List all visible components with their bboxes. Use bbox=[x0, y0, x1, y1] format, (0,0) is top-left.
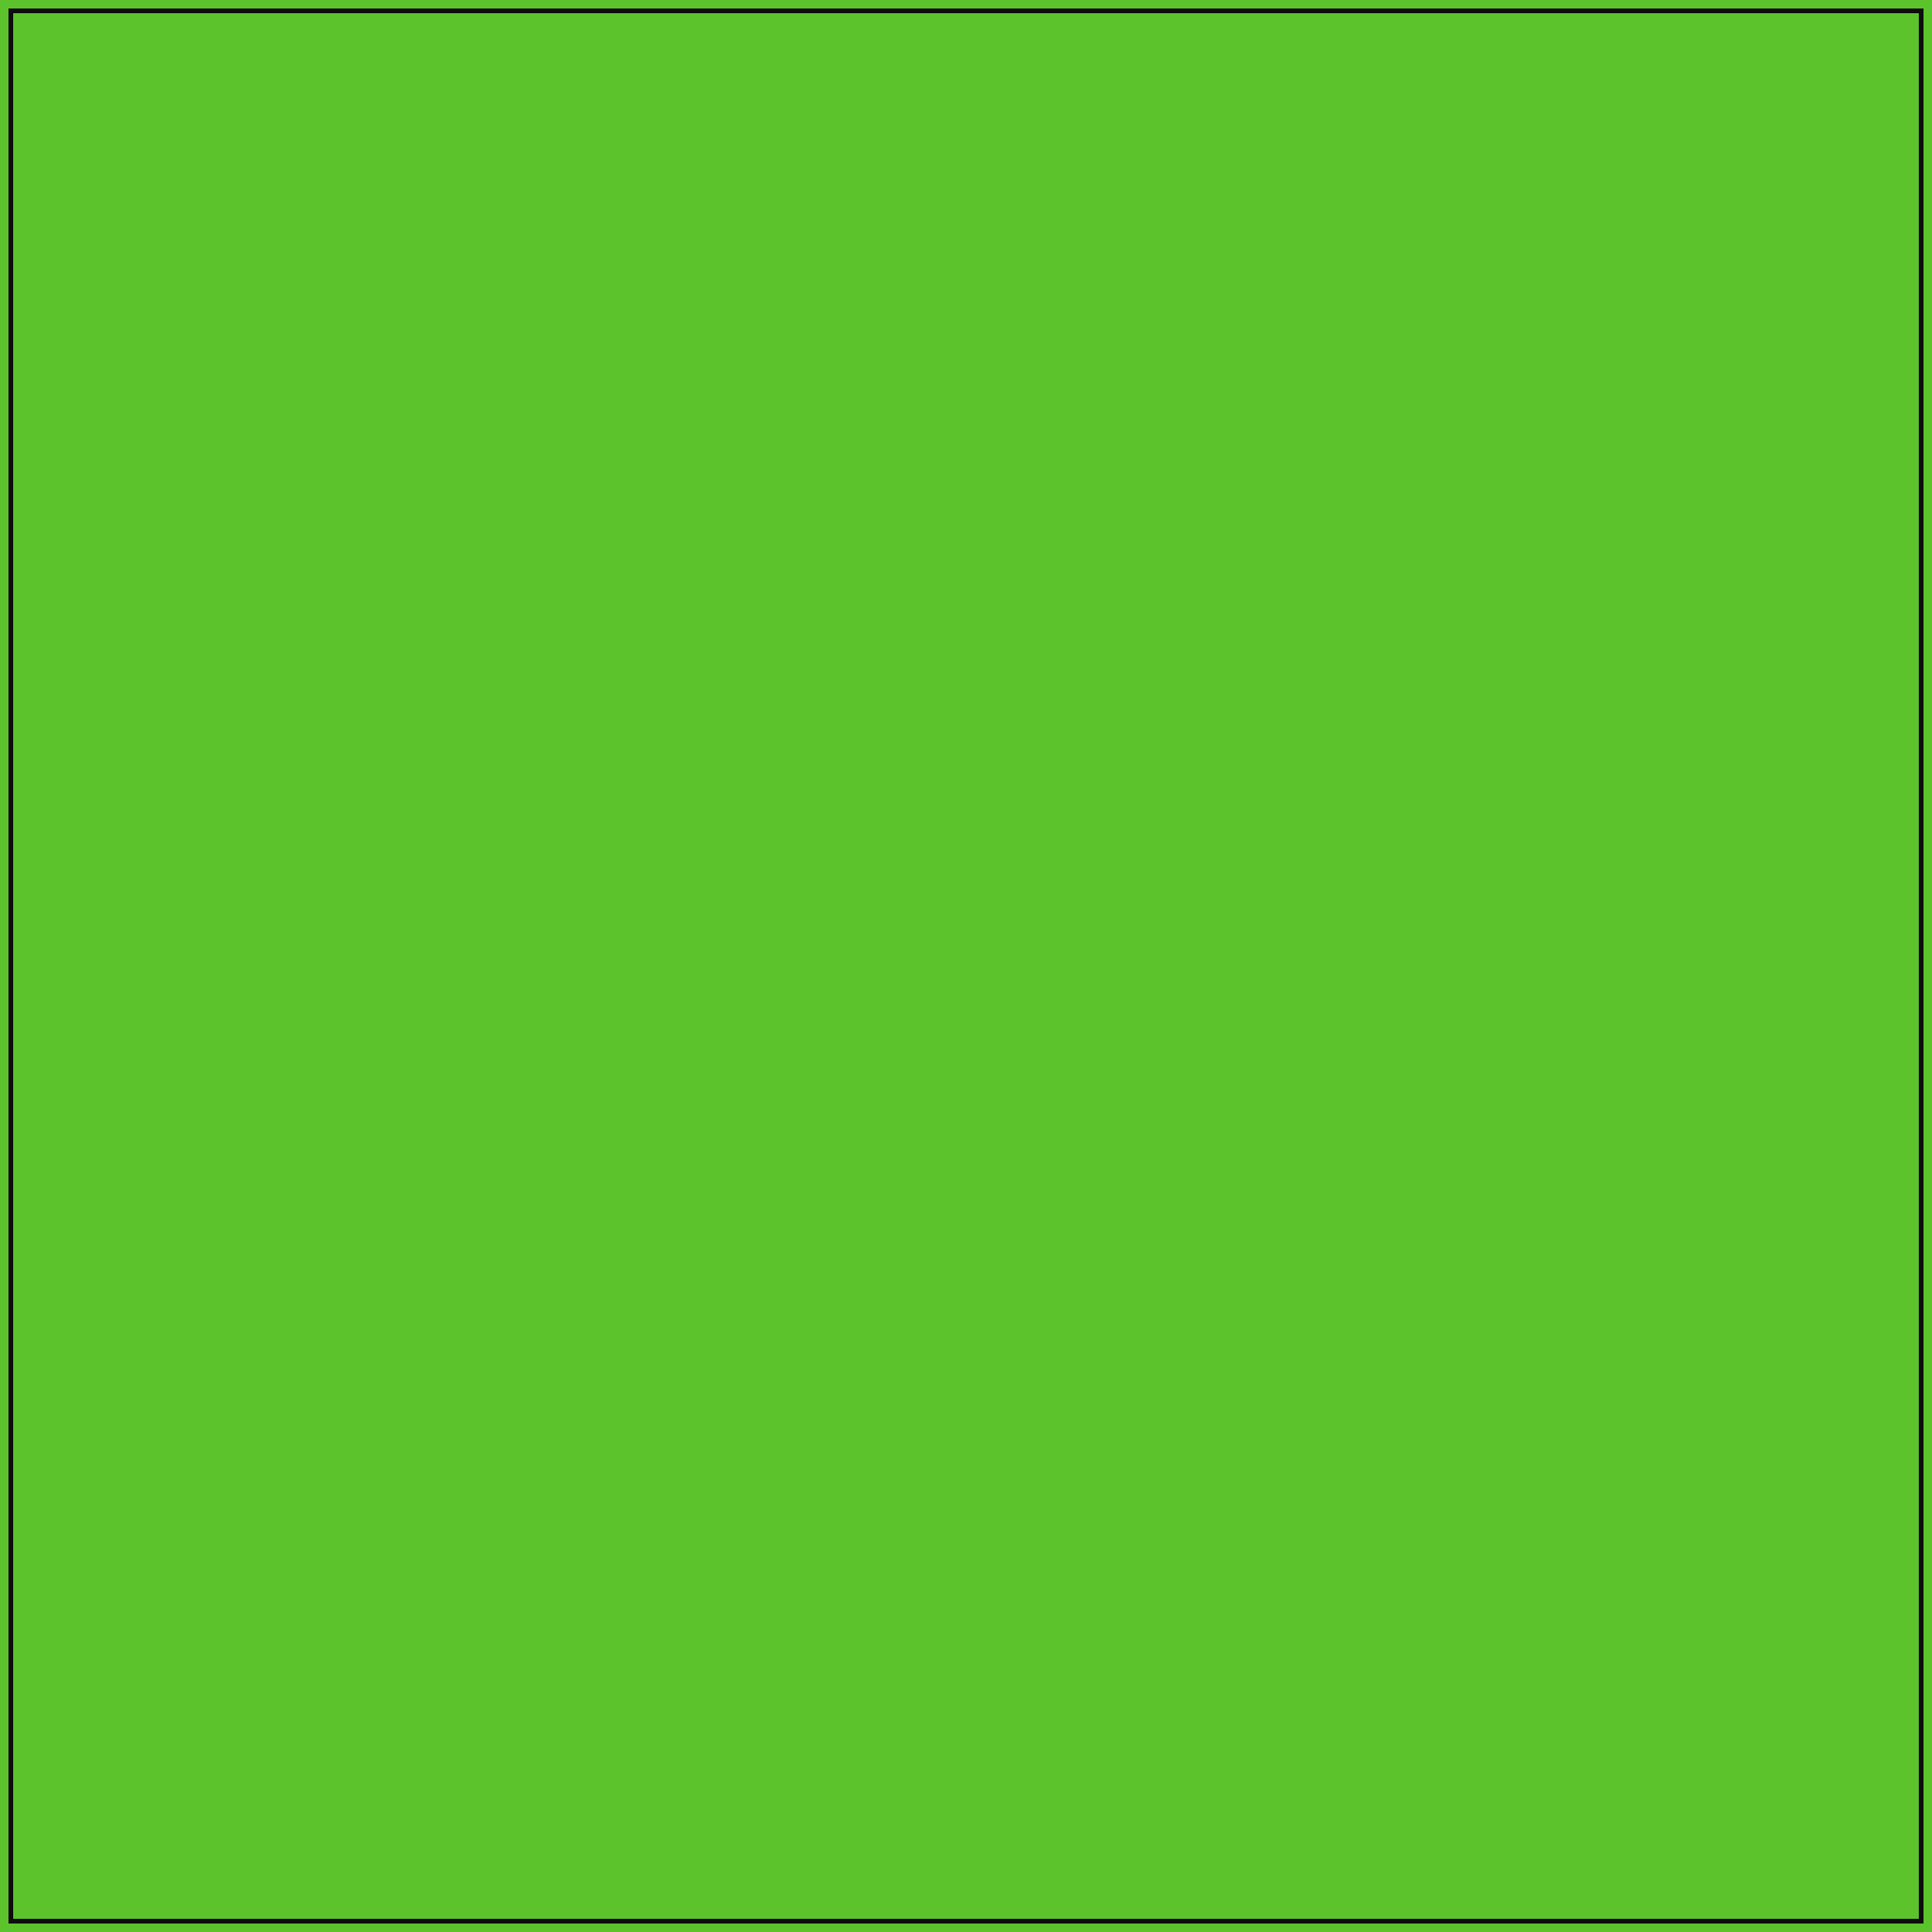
radio-app-icon[interactable] bbox=[38, 1373, 226, 1542]
boombox-speaker-top-right bbox=[1769, 1569, 1880, 1673]
twitter-handle[interactable]: @music4TR12_2 bbox=[549, 1832, 1007, 1877]
google-play-small-label: GET IT ON bbox=[98, 1752, 182, 1771]
boombox-base-right bbox=[1701, 1839, 1880, 1891]
twitter-label: Twitter: bbox=[313, 1834, 442, 1876]
instagram-label: Instagram: bbox=[313, 1789, 502, 1831]
live365-number: 365 bbox=[45, 1242, 223, 1309]
radio-knob-top bbox=[168, 1484, 196, 1512]
social-row-twitter[interactable]: Twitter: bbox=[275, 1832, 502, 1877]
autobot-cross-icon bbox=[1569, 1647, 1674, 1757]
tunein-tune-box: TUNE bbox=[42, 1618, 183, 1676]
boombox-grip bbox=[1504, 1492, 1721, 1521]
cassette-reel-right bbox=[1672, 1687, 1723, 1738]
schedule-line-2: MON. - FRI. bbox=[1330, 1094, 1858, 1165]
boombox-slider[interactable] bbox=[1490, 1820, 1652, 1842]
schedule-block: EVERY MON. - FRI. AT 11AM bbox=[1198, 1024, 1858, 1237]
app-store-badge[interactable]: Download on the App Store bbox=[25, 1828, 213, 1904]
main-title: HIP-HOP PRAISE bbox=[243, 104, 1591, 282]
social-labels: Facebook: Instagram: Twitter: bbox=[275, 1741, 502, 1877]
google-play-badge[interactable]: GET IT ON Google Play bbox=[25, 1738, 213, 1813]
poster-canvas: It's HIP-HOP PRAISE HIP-HOP PRAISE with … bbox=[0, 0, 1932, 1932]
google-play-icon bbox=[42, 1757, 85, 1802]
live365-word: LIVE bbox=[45, 1163, 223, 1222]
instagram-handle[interactable]: @transformationradio12.2 bbox=[549, 1787, 1007, 1832]
boombox-brand-text: TRANSFORMATION RADIO 12:2 bbox=[1467, 1574, 1778, 1595]
radio-knob-bottom bbox=[168, 1525, 196, 1554]
tunein-badge[interactable]: IN TUNE bbox=[42, 1599, 241, 1676]
schedule-line-1: EVERY bbox=[1330, 1024, 1858, 1094]
apple-icon bbox=[43, 1843, 85, 1892]
app-store-large-label: App Store bbox=[96, 1860, 209, 1930]
boombox-speaker-bottom-left bbox=[1342, 1676, 1454, 1827]
cassette-reel-left bbox=[1521, 1687, 1572, 1738]
bottom-accent-rule bbox=[13, 1909, 1919, 1919]
social-handles: w3transform3d @transformationradio12.2 @… bbox=[549, 1741, 1007, 1877]
twitter-icon bbox=[275, 1837, 313, 1873]
boombox-body: TRANSFORMATION RADIO 12:2 bbox=[1328, 1555, 1894, 1906]
headline-line-2: CENTURY bbox=[1177, 706, 1858, 808]
boombox-base-left bbox=[1342, 1839, 1505, 1891]
radio-antenna bbox=[69, 1369, 187, 1417]
facebook-icon bbox=[275, 1746, 313, 1782]
boombox-speaker-bottom-right bbox=[1769, 1676, 1880, 1827]
boombox-graphic: TRANSFORMATION RADIO 12:2 bbox=[1319, 1487, 1904, 1911]
transformation-radio-logo: Culturally connected, Scripturally set-a… bbox=[45, 901, 300, 1090]
facebook-handle[interactable]: w3transform3d bbox=[549, 1741, 1007, 1787]
boombox-button-2[interactable] bbox=[1576, 1848, 1644, 1873]
tunein-tune-label: TUNE bbox=[49, 1631, 175, 1667]
live365-badge[interactable]: LIVE 365 bbox=[45, 1144, 223, 1325]
social-row-facebook[interactable]: Facebook: bbox=[275, 1741, 502, 1787]
headline-block: THAT 21ST CENTURY PRAISE bbox=[1085, 604, 1858, 908]
social-row-instagram[interactable]: Instagram: bbox=[275, 1787, 502, 1832]
boombox-speaker-top-left bbox=[1342, 1569, 1454, 1673]
social-divider bbox=[514, 1687, 521, 1887]
boombox-cassette-deck bbox=[1474, 1605, 1769, 1808]
radio-body bbox=[51, 1422, 217, 1533]
facebook-label: Facebook: bbox=[313, 1743, 498, 1786]
boombox-cassette-window bbox=[1494, 1624, 1749, 1789]
headline-line-1: THAT 21ST bbox=[1177, 604, 1858, 706]
instagram-icon bbox=[275, 1791, 313, 1827]
dj-name-inner: DJ RONNIE RON bbox=[1000, 396, 1932, 535]
headline-line-3: PRAISE bbox=[1177, 807, 1858, 908]
schedule-line-3: AT 11AM bbox=[1330, 1166, 1858, 1237]
